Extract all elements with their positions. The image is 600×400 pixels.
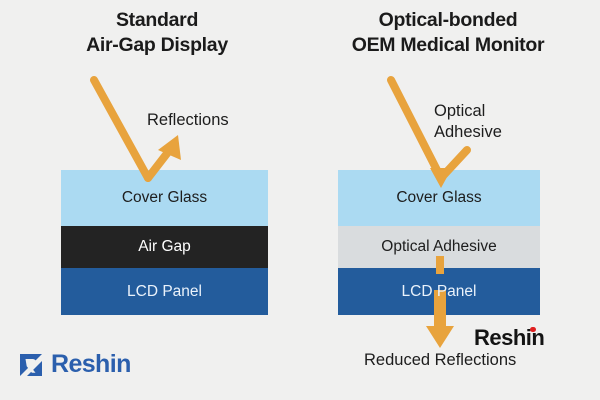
diagram-canvas: Standard Air-Gap Display Optical-bonded … — [0, 0, 600, 400]
optical-bonded-display-stack: Cover Glass Optical Adhesive LCD Panel — [338, 170, 540, 315]
layer-air-gap: Air Gap — [61, 226, 268, 268]
reflected-ray-arrowhead-left — [158, 135, 181, 160]
reshin-logo-wordmark: Reshin — [51, 350, 131, 379]
layer-label-cover-glass-right: Cover Glass — [396, 189, 481, 207]
left-title-line-2: Air-Gap Display — [28, 33, 286, 58]
left-panel-title: Standard Air-Gap Display — [28, 8, 286, 58]
reshin-wordmark-secondary-text: Reshin — [474, 325, 544, 351]
air-gap-display-stack: Cover Glass Air Gap LCD Panel — [61, 170, 268, 315]
right-title-line-2: OEM Medical Monitor — [306, 33, 590, 58]
incoming-ray-arrow-left — [94, 80, 148, 178]
layer-label-lcd-panel-right: LCD Panel — [402, 283, 477, 301]
layer-label-cover-glass-left: Cover Glass — [122, 189, 207, 207]
layer-label-optical-adhesive: Optical Adhesive — [381, 238, 496, 256]
annotation-optical-adhesive-line-1: Optical — [434, 101, 502, 122]
reshin-logo: Reshin — [18, 350, 131, 379]
output-ray-arrowhead — [426, 326, 454, 348]
reshin-wordmark-secondary: Reshin — [474, 325, 544, 351]
annotation-optical-adhesive-line-2: Adhesive — [434, 122, 502, 143]
reshin-red-dot-icon — [530, 327, 536, 333]
annotation-reflections: Reflections — [147, 110, 229, 131]
annotation-optical-adhesive: Optical Adhesive — [434, 101, 502, 143]
right-panel-title: Optical-bonded OEM Medical Monitor — [306, 8, 590, 58]
reshin-logo-mark-icon — [18, 352, 44, 378]
layer-label-air-gap: Air Gap — [138, 238, 191, 256]
layer-lcd-panel-left: LCD Panel — [61, 268, 268, 315]
layer-label-lcd-panel-left: LCD Panel — [127, 283, 202, 301]
right-title-line-1: Optical-bonded — [306, 8, 590, 33]
layer-optical-adhesive: Optical Adhesive — [338, 226, 540, 268]
layer-cover-glass-left: Cover Glass — [61, 170, 268, 226]
layer-cover-glass-right: Cover Glass — [338, 170, 540, 226]
layer-lcd-panel-right: LCD Panel — [338, 268, 540, 315]
annotation-reduced-reflections: Reduced Reflections — [364, 350, 516, 371]
left-title-line-1: Standard — [28, 8, 286, 33]
